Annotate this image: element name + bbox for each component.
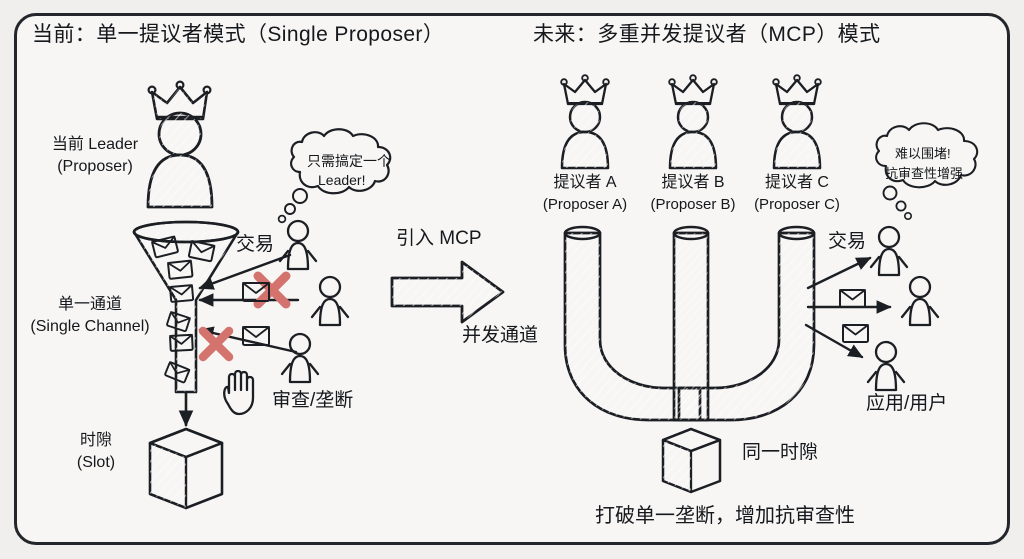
crown-icon xyxy=(561,75,609,104)
left-user-figures xyxy=(280,221,348,382)
proposer-a-label-cn: 提议者 A xyxy=(525,174,645,193)
diagram-artwork xyxy=(0,0,1024,559)
proposer-c-label-en: (Proposer C) xyxy=(727,196,867,214)
leader-label-en: (Proposer) xyxy=(36,158,154,177)
crown-icon xyxy=(669,75,717,104)
left-thought-line2: Leader! xyxy=(318,172,365,189)
concurrent-channels-icon xyxy=(565,227,814,420)
stop-hand-icon xyxy=(224,371,253,414)
diagram-canvas: 当前：单一提议者模式（Single Proposer） 未来：多重并发提议者（M… xyxy=(0,0,1024,559)
person-icon xyxy=(280,221,316,269)
slot-label-cn: 时隙 xyxy=(60,432,132,451)
person-icon xyxy=(902,277,938,325)
censor-label: 审查/垄断 xyxy=(272,390,353,412)
mcp-arrow-label: 引入 MCP xyxy=(396,228,482,250)
left-thought-line1: 只需搞定一个 xyxy=(307,153,391,170)
envelope-icon xyxy=(840,290,868,342)
person-icon xyxy=(871,227,907,275)
conclusion-text: 打破单一垄断，增加抗审查性 xyxy=(595,505,855,529)
leader-label-cn: 当前 Leader xyxy=(36,136,154,155)
right-user-figures xyxy=(868,227,938,390)
single-channel-label-en: (Single Channel) xyxy=(8,318,172,337)
same-slot-label: 同一时隙 xyxy=(742,442,818,464)
proposer-figures xyxy=(561,75,821,168)
proposer-c-figure xyxy=(773,75,821,168)
proposer-b-label-cn: 提议者 B xyxy=(633,174,753,193)
right-tx-label: 交易 xyxy=(828,231,866,253)
right-thought-line2: 抗审查性增强 xyxy=(885,166,963,181)
right-thought-line1: 难以围堵! xyxy=(895,146,951,161)
single-channel-label-cn: 单一通道 xyxy=(20,296,160,315)
person-icon xyxy=(282,334,318,382)
right-slot-cube-icon xyxy=(663,429,720,492)
users-label: 应用/用户 xyxy=(866,393,947,415)
mcp-transition-arrow-icon xyxy=(392,262,503,322)
leader-figure xyxy=(148,82,212,207)
concurrent-channel-label: 并发通道 xyxy=(462,325,538,347)
slot-label-en: (Slot) xyxy=(56,454,136,473)
proposer-a-figure xyxy=(561,75,609,168)
proposer-c-label-cn: 提议者 C xyxy=(737,174,857,193)
person-icon xyxy=(868,342,904,390)
person-icon xyxy=(312,277,348,325)
left-tx-label: 交易 xyxy=(236,234,274,256)
proposer-b-figure xyxy=(669,75,717,168)
left-slot-cube-icon xyxy=(150,429,222,508)
crown-icon xyxy=(773,75,821,104)
